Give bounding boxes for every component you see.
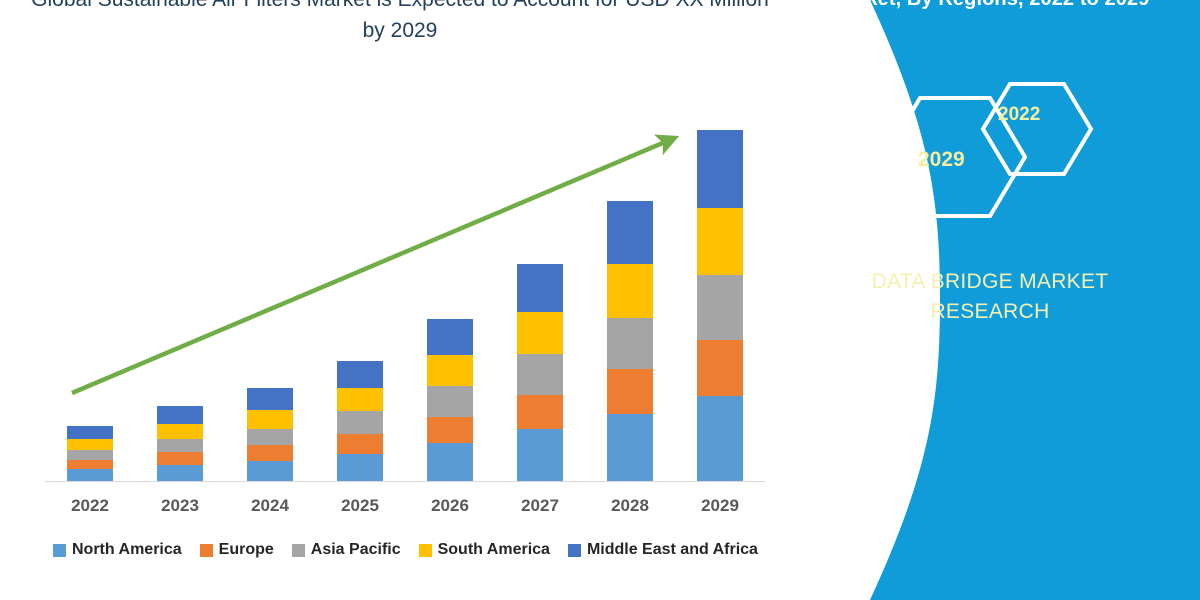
stacked-bar bbox=[337, 361, 383, 483]
bar-segment bbox=[697, 275, 743, 340]
bar-segment bbox=[337, 454, 383, 482]
bar-segment bbox=[247, 388, 293, 410]
bar-segment bbox=[337, 411, 383, 433]
bar-column bbox=[45, 120, 135, 482]
bar-segment bbox=[697, 208, 743, 275]
bar-segment bbox=[607, 369, 653, 414]
bar-segment bbox=[697, 396, 743, 482]
legend-swatch-icon bbox=[200, 544, 213, 557]
legend-swatch-icon bbox=[292, 544, 305, 557]
x-tick-label: 2022 bbox=[45, 496, 135, 516]
bar-column bbox=[675, 120, 765, 482]
hexagon-big-label: 2029 bbox=[918, 148, 965, 172]
legend-label: South America bbox=[438, 541, 550, 559]
bar-segment bbox=[697, 130, 743, 208]
bar-segment bbox=[607, 318, 653, 369]
bar-column bbox=[405, 120, 495, 482]
x-tick-label: 2027 bbox=[495, 496, 585, 516]
bar-segment bbox=[157, 439, 203, 452]
stacked-bar bbox=[517, 264, 563, 482]
x-tick-label: 2024 bbox=[225, 496, 315, 516]
hexagon-2022-icon bbox=[983, 84, 1091, 174]
bar-segment bbox=[67, 460, 113, 469]
bar-segment bbox=[157, 406, 203, 424]
x-tick-label: 2028 bbox=[585, 496, 675, 516]
bar-segment bbox=[337, 434, 383, 455]
stacked-bar bbox=[427, 319, 473, 482]
bar-segment bbox=[427, 355, 473, 386]
stacked-bar bbox=[247, 388, 293, 482]
brand-name-line-1: DATA BRIDGE MARKET bbox=[780, 267, 1200, 297]
brand-name-line-2: RESEARCH bbox=[780, 297, 1200, 327]
legend-label: Middle East and Africa bbox=[587, 541, 758, 559]
bar-segment bbox=[607, 201, 653, 264]
brand-panel-title: Market, By Regions, 2022 to 2029 bbox=[780, 0, 1200, 12]
bar-segment bbox=[607, 414, 653, 482]
brand-panel: Market, By Regions, 2022 to 2029 2029 20… bbox=[780, 0, 1200, 600]
legend-swatch-icon bbox=[419, 544, 432, 557]
bar-segment bbox=[517, 264, 563, 312]
hexagon-badges: 2029 2022 bbox=[875, 82, 1195, 232]
bar-segment bbox=[157, 452, 203, 465]
chart-title: Global Sustainable Air Filters Market is… bbox=[30, 0, 770, 46]
bar-segment bbox=[67, 439, 113, 450]
bar-segment bbox=[607, 264, 653, 318]
bar-segment bbox=[337, 361, 383, 389]
bar-segment bbox=[67, 426, 113, 439]
bar-segment bbox=[337, 388, 383, 411]
bar-segment bbox=[247, 445, 293, 461]
x-tick-label: 2025 bbox=[315, 496, 405, 516]
stacked-bar bbox=[157, 406, 203, 482]
hexagon-small-label: 2022 bbox=[998, 104, 1040, 126]
plot-area bbox=[45, 120, 765, 482]
bar-segment bbox=[427, 319, 473, 355]
bar-segment bbox=[697, 340, 743, 396]
bar-column bbox=[225, 120, 315, 482]
bar-column bbox=[315, 120, 405, 482]
bar-segment bbox=[247, 429, 293, 445]
bar-segment bbox=[517, 354, 563, 395]
bar-segment bbox=[427, 386, 473, 416]
stacked-bar bbox=[67, 426, 113, 482]
legend-item-asia-pacific: Asia Pacific bbox=[292, 541, 401, 559]
bar-segment bbox=[247, 461, 293, 482]
brand-name: DATA BRIDGE MARKET RESEARCH bbox=[780, 267, 1200, 327]
bar-segment bbox=[157, 465, 203, 482]
bar-segment bbox=[517, 429, 563, 482]
x-tick-label: 2023 bbox=[135, 496, 225, 516]
bar-segment bbox=[247, 410, 293, 429]
bar-segment bbox=[427, 443, 473, 482]
x-tick-label: 2029 bbox=[675, 496, 765, 516]
stacked-bar bbox=[697, 130, 743, 482]
legend-item-middle-east-and-africa: Middle East and Africa bbox=[568, 541, 758, 559]
bar-segment bbox=[67, 450, 113, 459]
bar-column bbox=[135, 120, 225, 482]
bar-group bbox=[45, 120, 765, 482]
legend-item-europe: Europe bbox=[200, 541, 274, 559]
stacked-bar bbox=[607, 201, 653, 482]
x-axis-labels: 2022 2023 2024 2025 2026 2027 2028 2029 bbox=[45, 489, 765, 523]
bar-column bbox=[585, 120, 675, 482]
bar-segment bbox=[157, 424, 203, 439]
x-axis-line bbox=[45, 481, 765, 482]
bar-segment bbox=[517, 312, 563, 354]
bar-segment bbox=[517, 395, 563, 429]
market-chart-infographic: Global Sustainable Air Filters Market is… bbox=[0, 0, 1200, 600]
bar-segment bbox=[427, 417, 473, 444]
legend-swatch-icon bbox=[53, 544, 66, 557]
legend-swatch-icon bbox=[568, 544, 581, 557]
bar-column bbox=[495, 120, 585, 482]
legend-label: North America bbox=[72, 541, 182, 559]
legend-item-north-america: North America bbox=[53, 541, 182, 559]
chart-panel: Global Sustainable Air Filters Market is… bbox=[0, 0, 800, 600]
legend-item-south-america: South America bbox=[419, 541, 550, 559]
chart-legend: North America Europe Asia Pacific South … bbox=[45, 535, 793, 565]
legend-label: Asia Pacific bbox=[311, 541, 401, 559]
legend-label: Europe bbox=[219, 541, 274, 559]
x-tick-label: 2026 bbox=[405, 496, 495, 516]
